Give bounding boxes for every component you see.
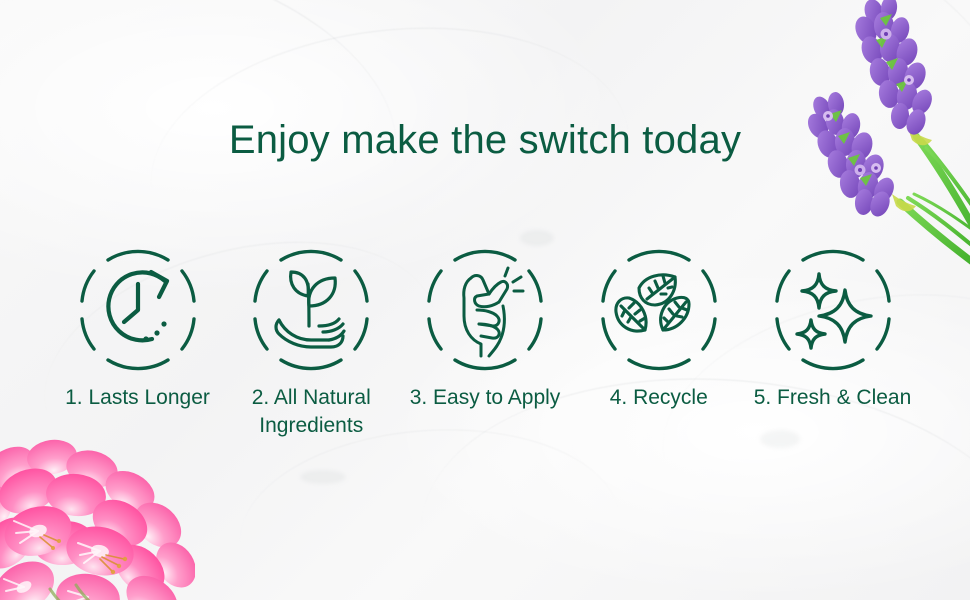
finger-snap-icon [419,244,551,376]
clock-arrow-icon [72,244,204,376]
promo-banner: Enjoy make the switch today [0,0,970,600]
feature-item-all-natural-ingredients[interactable]: 2. All Natural Ingredients [229,244,394,440]
feature-item-lasts-longer[interactable]: 1. Lasts Longer [55,244,220,412]
feature-label: 2. All Natural Ingredients [229,384,394,440]
feature-item-fresh-and-clean[interactable]: 5. Fresh & Clean [750,244,915,412]
feature-item-easy-to-apply[interactable]: 3. Easy to Apply [403,244,568,412]
page-title: Enjoy make the switch today [0,118,970,163]
three-leaves-recycle-icon [593,244,725,376]
feature-label: 3. Easy to Apply [410,384,561,412]
hand-plant-icon [245,244,377,376]
feature-label: 5. Fresh & Clean [754,384,912,412]
feature-list: 1. Lasts Longer [55,244,915,440]
feature-item-recycle[interactable]: 4. Recycle [576,244,741,412]
feature-label: 4. Recycle [610,384,708,412]
sparkles-icon [767,244,899,376]
marble-speck [300,470,346,484]
feature-label: 1. Lasts Longer [65,384,210,412]
